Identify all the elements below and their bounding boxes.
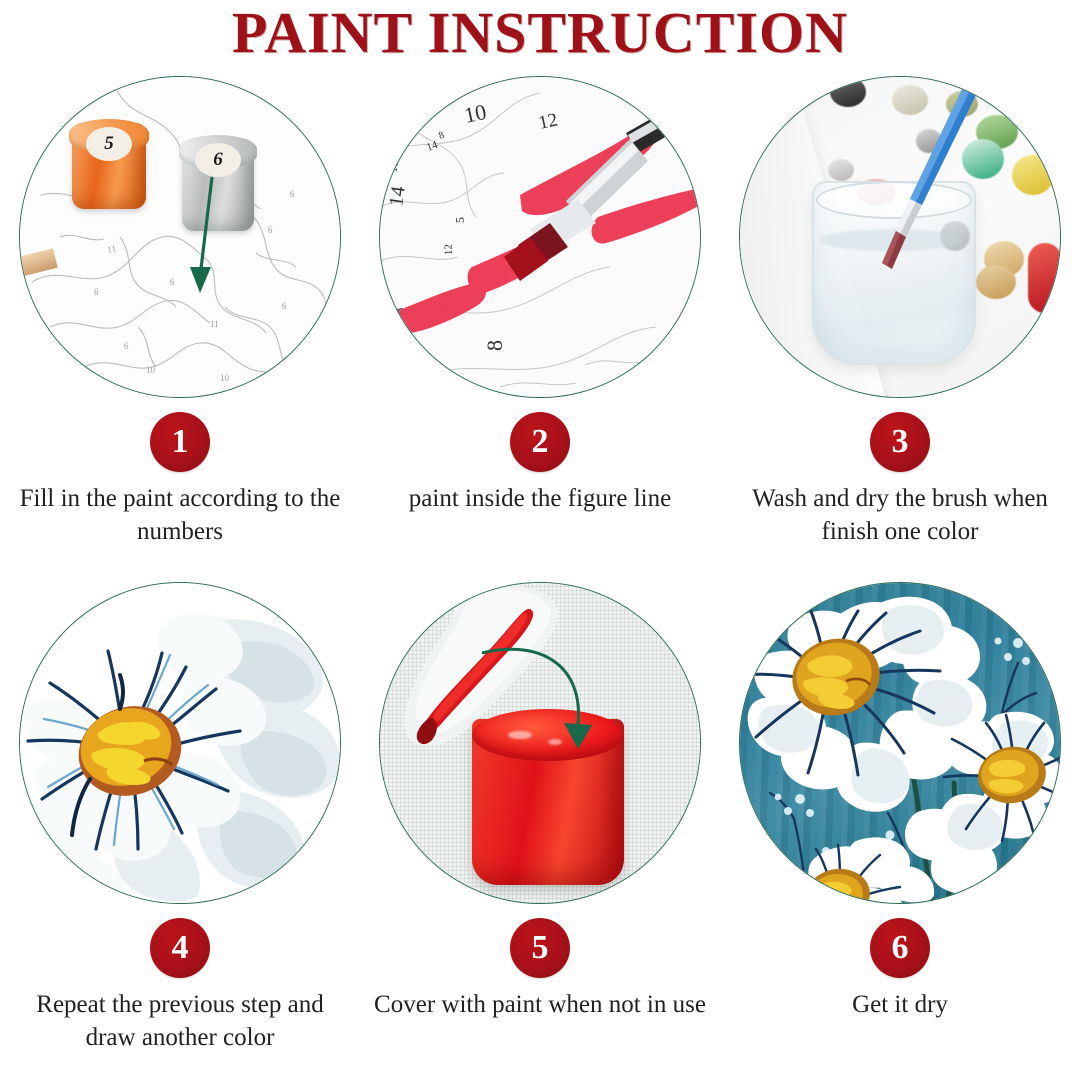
- svg-text:8: 8: [437, 130, 445, 142]
- steps-row-bottom: 4 Repeat the previous step and draw anot…: [0, 578, 1080, 1084]
- step-badge-6: 6: [870, 918, 930, 978]
- svg-text:5: 5: [453, 217, 467, 223]
- step-caption-3: Wash and dry the brush when finish one c…: [730, 482, 1070, 548]
- step-card-1: 11 6 6 6 11 6 6 10 10 6: [0, 72, 360, 578]
- paint-brush: [740, 77, 1061, 398]
- step-caption-1: Fill in the paint according to the numbe…: [10, 482, 350, 548]
- step-badge-2: 2: [510, 412, 570, 472]
- svg-text:14: 14: [385, 185, 410, 208]
- step-6-image-wrap: [739, 582, 1061, 904]
- open-red-paint-pot-with-lid-photo: [379, 582, 701, 904]
- step-caption-2: paint inside the figure line: [370, 482, 710, 515]
- svg-text:12: 12: [443, 244, 455, 255]
- page-title-bar: PAINT INSTRUCTION: [0, 0, 1080, 72]
- step-caption-6: Get it dry: [730, 988, 1070, 1021]
- svg-text:9: 9: [420, 380, 441, 390]
- brush-rinsing-in-water-glass-photo: [739, 76, 1061, 398]
- svg-text:10: 10: [385, 159, 401, 174]
- step-caption-4: Repeat the previous step and draw anothe…: [10, 988, 350, 1054]
- step-card-6: 6 Get it dry: [720, 578, 1080, 1084]
- brush-painting-strokes-on-canvas-photo: 10 12 14 10 14 8 5 12 8 8: [379, 76, 701, 398]
- step-card-4: 4 Repeat the previous step and draw anot…: [0, 578, 360, 1084]
- step-badge-3: 3: [870, 412, 930, 472]
- svg-text:14: 14: [425, 139, 440, 154]
- svg-text:12: 12: [537, 109, 560, 133]
- step-badge-5: 5: [510, 918, 570, 978]
- step-4-image-wrap: [19, 582, 341, 904]
- paint-instruction-poster: PAINT INSTRUCTION: [0, 0, 1080, 1084]
- steps-row-top: 11 6 6 6 11 6 6 10 10 6: [0, 72, 1080, 578]
- curved-arrow-icon: [380, 583, 701, 904]
- steps-grid: 11 6 6 6 11 6 6 10 10 6: [0, 72, 1080, 1084]
- step-badge-1: 1: [150, 412, 210, 472]
- page-title: PAINT INSTRUCTION: [232, 2, 848, 64]
- step-caption-5: Cover with paint when not in use: [370, 988, 710, 1021]
- svg-text:10: 10: [462, 99, 489, 128]
- step-card-5: 5 Cover with paint when not in use: [360, 578, 720, 1084]
- down-arrow-icon: [20, 77, 341, 398]
- painted-white-daisy-closeup-photo: [19, 582, 341, 904]
- step-2-image-wrap: 10 12 14 10 14 8 5 12 8 8: [379, 76, 701, 398]
- step-card-3: 3 Wash and dry the brush when finish one…: [720, 72, 1080, 578]
- step-3-image-wrap: [739, 76, 1061, 398]
- step-card-2: 10 12 14 10 14 8 5 12 8 8: [360, 72, 720, 578]
- step-5-image-wrap: [379, 582, 701, 904]
- step-badge-4: 4: [150, 918, 210, 978]
- svg-text:8: 8: [482, 340, 507, 351]
- finished-daisy-painting-photo: [739, 582, 1061, 904]
- step-1-image-wrap: 11 6 6 6 11 6 6 10 10 6: [19, 76, 341, 398]
- numbered-canvas-with-paint-pots-photo: 11 6 6 6 11 6 6 10 10 6: [19, 76, 341, 398]
